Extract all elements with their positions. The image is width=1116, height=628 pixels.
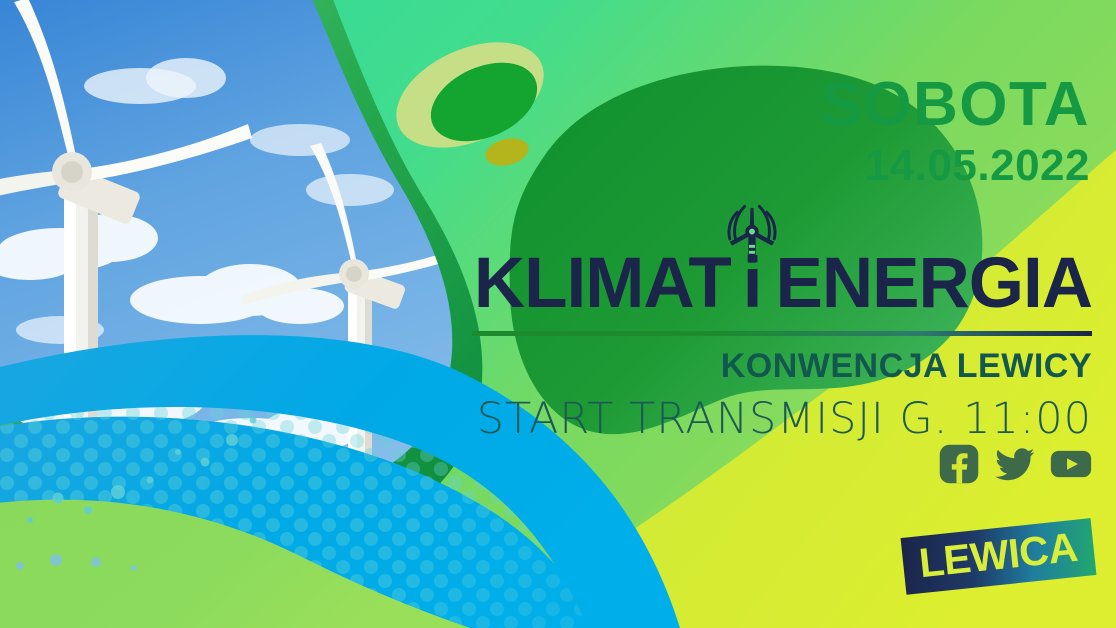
title-word-klimat: KLIMAT (474, 248, 731, 319)
twitter-icon[interactable] (994, 443, 1036, 485)
event-date-block: SOBOTA 14.05.2022 (820, 74, 1090, 188)
wind-turbine-icon (715, 199, 789, 273)
social-links: Facebook Twitter YouTube (938, 443, 1092, 485)
title-divider (472, 331, 1092, 336)
facebook-icon[interactable] (938, 443, 980, 485)
event-date-label: 14.05.2022 (820, 144, 1090, 188)
title-block: KLIMAT (472, 248, 1092, 444)
broadcast-time: START TRANSMISJI G. 11:00 (472, 394, 1092, 444)
campaign-poster: SOBOTA 14.05.2022 KLIMAT (0, 0, 1116, 628)
page-title: KLIMAT (472, 248, 1092, 319)
title-conjunction-wrap: i (743, 248, 762, 319)
subtitle: KONWENCJA LEWICY (472, 347, 1092, 386)
event-day-label: SOBOTA (820, 74, 1090, 136)
title-word-energia: ENERGIA (776, 248, 1093, 319)
lewica-logo-text: LEWICA (917, 527, 1079, 584)
youtube-icon[interactable] (1050, 443, 1092, 485)
